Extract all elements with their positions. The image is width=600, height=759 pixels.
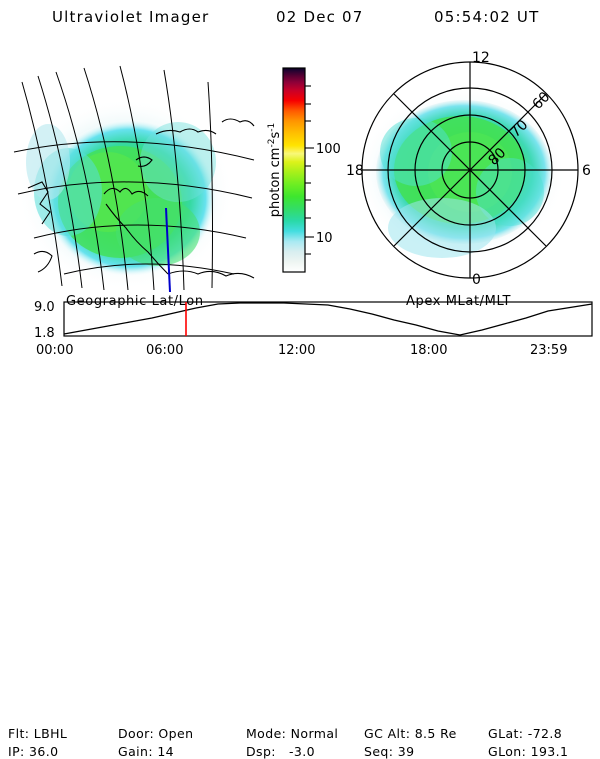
altitude-strip-chart: GC Alt 9.0 1.8 00:00 06:00 12:00 18:00 2… bbox=[0, 292, 600, 358]
observation-date: 02 Dec 07 bbox=[276, 8, 364, 26]
mlat-label-60: 60 bbox=[530, 89, 554, 113]
status-footer: Flt: LBHL Door: Open Mode: Normal GC Alt… bbox=[0, 360, 600, 400]
status-ip: IP: 36.0 bbox=[8, 744, 58, 759]
instrument-title: Ultraviolet Imager bbox=[52, 8, 209, 26]
cbar-label-main: photon cm bbox=[268, 148, 283, 218]
xtick-0600: 06:00 bbox=[146, 343, 183, 358]
cbar-label-sup2: -1 bbox=[267, 123, 277, 132]
uvi-screenshot: Ultraviolet Imager 02 Dec 07 05:54:02 UT bbox=[0, 0, 600, 400]
colorbar-tick-10: 10 bbox=[316, 231, 333, 246]
magnetic-image-panel: 12 6 0 18 60 70 80 bbox=[342, 42, 600, 292]
svg-text:GC Alt: GC Alt bbox=[0, 318, 4, 358]
strip-ytick-top: 9.0 bbox=[34, 300, 55, 315]
status-glat: GLat: -72.8 bbox=[488, 726, 562, 741]
colorbar-axis-label: photon cm-2s-1 bbox=[267, 123, 283, 217]
altitude-trace bbox=[64, 303, 592, 335]
xtick-1800: 18:00 bbox=[410, 343, 447, 358]
cbar-label-sup1: -2 bbox=[267, 139, 277, 148]
geographic-image-panel bbox=[8, 42, 266, 292]
mlt-label-6: 6 bbox=[582, 163, 591, 179]
colorbar-tick-labels: 100 10 bbox=[316, 142, 341, 246]
colorbar-gradient bbox=[283, 68, 305, 272]
colorbar-tick-100: 100 bbox=[316, 142, 341, 157]
colorbar-panel: 100 10 photon cm-2s-1 bbox=[266, 42, 342, 292]
mlt-label-18: 18 bbox=[346, 163, 364, 179]
xtick-0000: 00:00 bbox=[36, 343, 73, 358]
mlt-label-12: 12 bbox=[472, 50, 490, 66]
geographic-plot bbox=[8, 42, 266, 292]
status-seq: Seq: 39 bbox=[364, 744, 414, 759]
magnetic-polar-plot: 12 6 0 18 60 70 80 bbox=[342, 42, 600, 292]
strip-ytick-bottom: 1.8 bbox=[34, 326, 55, 341]
xtick-1200: 12:00 bbox=[278, 343, 315, 358]
strip-xtick-labels: 00:00 06:00 12:00 18:00 23:59 bbox=[36, 343, 567, 358]
altitude-plot: GC Alt 9.0 1.8 00:00 06:00 12:00 18:00 2… bbox=[0, 292, 600, 358]
colorbar: 100 10 photon cm-2s-1 bbox=[266, 42, 342, 292]
svg-text:photon cm-2s-1: photon cm-2s-1 bbox=[267, 123, 283, 217]
observation-time: 05:54:02 UT bbox=[434, 8, 539, 26]
status-gain: Gain: 14 bbox=[118, 744, 174, 759]
status-mode: Mode: Normal bbox=[246, 726, 338, 741]
status-door: Door: Open bbox=[118, 726, 193, 741]
status-dsp: Dsp: -3.0 bbox=[246, 744, 315, 759]
status-gc-alt: GC Alt: 8.5 Re bbox=[364, 726, 457, 741]
colorbar-minor-ticks bbox=[305, 86, 314, 254]
status-glon: GLon: 193.1 bbox=[488, 744, 568, 759]
strip-ylabel: GC Alt bbox=[0, 318, 4, 358]
xtick-2359: 23:59 bbox=[530, 343, 567, 358]
status-flight: Flt: LBHL bbox=[8, 726, 67, 741]
mlt-label-0: 0 bbox=[472, 272, 481, 288]
